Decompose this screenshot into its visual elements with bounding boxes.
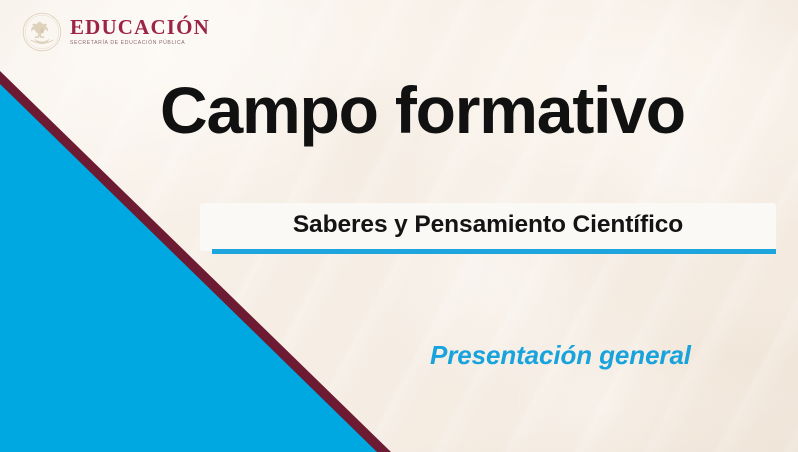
- presentation-slide: EDUCACIÓN SECRETARÍA DE EDUCACIÓN PÚBLIC…: [0, 0, 798, 452]
- page-title: Campo formativo: [160, 76, 780, 145]
- subtitle-underline-rule: [212, 249, 776, 254]
- sep-wordmark: EDUCACIÓN SECRETARÍA DE EDUCACIÓN PÚBLIC…: [70, 17, 210, 46]
- subtitle-band: Saberes y Pensamiento Científico: [200, 203, 776, 251]
- footer-caption: Presentación general: [430, 340, 691, 371]
- logo-title: EDUCACIÓN: [70, 17, 210, 38]
- mexican-eagle-seal-icon: [22, 12, 62, 52]
- sep-logo: EDUCACIÓN SECRETARÍA DE EDUCACIÓN PÚBLIC…: [22, 12, 210, 52]
- subtitle-text: Saberes y Pensamiento Científico: [200, 211, 776, 239]
- logo-subtitle: SECRETARÍA DE EDUCACIÓN PÚBLICA: [70, 41, 210, 46]
